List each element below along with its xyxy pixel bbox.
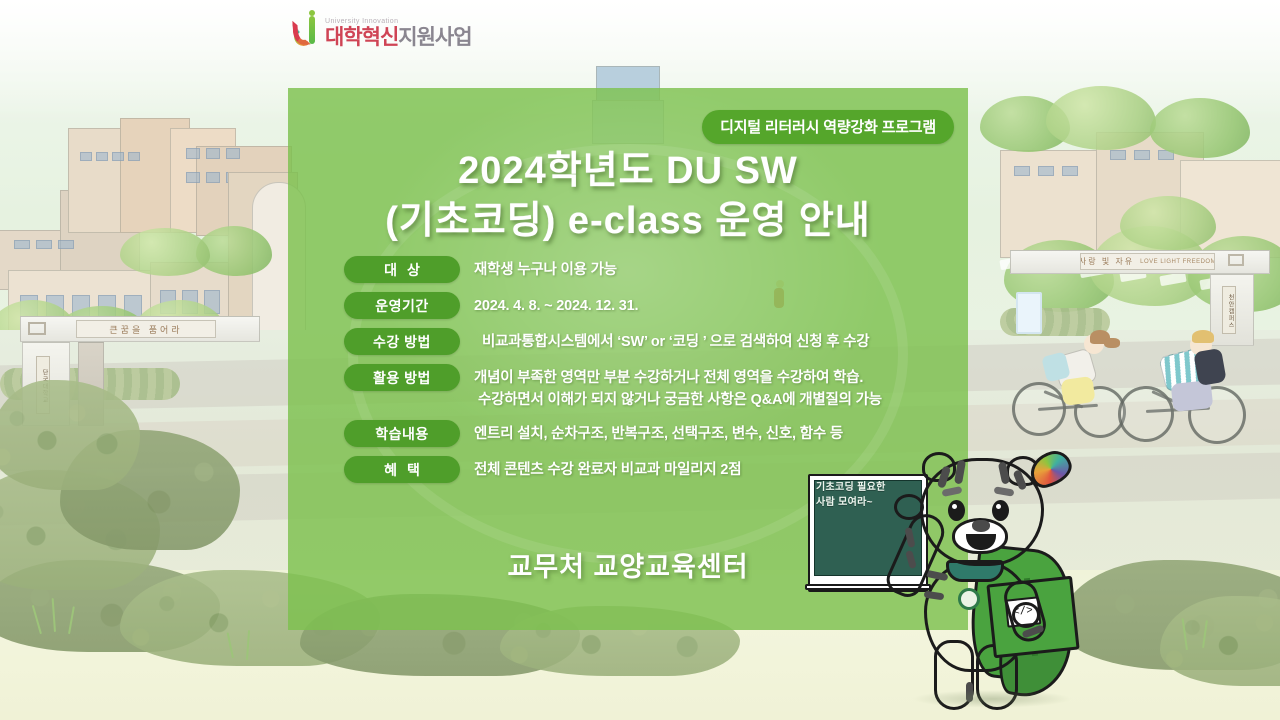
building-window [206,172,220,183]
gate-sign-text-ko: 사랑 빛 자유 [1080,256,1134,267]
row-label-period: 운영기간 [344,292,460,319]
building-window [186,148,200,159]
row-value-line2: 수강하면서 이해가 되지 않거나 궁금한 사항은 Q&A에 개별질의 가능 [474,389,950,411]
mascot-eye-left [948,500,965,521]
program-category-badge: 디지털 리터러시 역량강화 프로그램 [702,110,954,144]
gate-vertical-banner: 천안캠퍼스 [1222,286,1236,334]
info-row: 학습내용 엔트리 설치, 순차구조, 반복구조, 선택구조, 변수, 신호, 함… [344,420,950,447]
row-value-usage-method: 개념이 부족한 영역만 부분 수강하거나 전체 영역을 수강하여 학습. 수강하… [460,364,950,411]
gate-sign-plate: 사랑 빛 자유 LOVE LIGHT FREEDOM [1080,253,1215,270]
row-value-line1: 엔트리 설치, 순차구조, 반복구조, 선택구조, 변수, 신호, 함수 등 [474,426,843,442]
building-window [112,152,124,161]
mascot-eye-shine [952,504,957,509]
gate-emblem-icon [1228,254,1244,266]
logo-korean-part2: 지원사업 [398,26,471,49]
row-label-enrollment-method: 수강 방법 [344,328,460,355]
logo-j-dot [309,10,315,16]
info-row: 수강 방법 비교과통합시스템에서 ‘SW’ or ‘코딩 ’ 으로 검색하여 신… [344,328,950,355]
building-window [1038,166,1054,176]
row-value-line1: 재학생 누구나 이용 가능 [474,262,617,278]
mascot-medal [958,588,980,610]
tree [1150,98,1250,158]
building-window [1110,150,1126,160]
row-value-target: 재학생 누구나 이용 가능 [460,256,950,281]
title-line-1: 2024학년도 DU SW [458,150,798,192]
building-window [80,152,92,161]
logo-korean-part1: 대학혁신 [325,26,398,49]
building-window [1062,166,1078,176]
campus-noticeboard [1016,292,1042,334]
building-window [226,148,240,159]
info-row: 운영기간 2024. 4. 8. ~ 2024. 12. 31. [344,292,950,319]
gate-sign-plate: 큰꿈을 품어라 [76,320,216,338]
tree [1120,196,1216,250]
building-window [36,240,52,249]
poster-stage: 큰꿈을 품어라 단국대학교 사랑 빛 자유 LOVE LIGHT FREEDOM… [0,0,1280,720]
logo-korean-name: 대학혁신지원사업 [325,27,472,48]
row-value-curriculum: 엔트리 설치, 순차구조, 반복구조, 선택구조, 변수, 신호, 함수 등 [460,420,950,445]
row-value-line1: 개념이 부족한 영역만 부분 수강하거나 전체 영역을 수강하여 학습. [474,370,863,386]
logo-mark-icon [293,14,320,50]
building-window [96,152,108,161]
row-value-line1: 2024. 4. 8. ~ 2024. 12. 31. [474,298,638,314]
bicycle-wheel [1118,386,1174,442]
logo-j-stem [309,16,315,44]
gate-sign-text: 큰꿈을 품어라 [109,323,182,336]
building-window [1014,166,1030,176]
building-window [14,240,30,249]
building-window [186,172,200,183]
row-value-enrollment-method: 비교과통합시스템에서 ‘SW’ or ‘코딩 ’ 으로 검색하여 신청 후 수강 [460,328,950,353]
mascot-paw-right [1012,602,1040,628]
row-label-benefit: 혜택 [344,456,460,483]
cyclist-figure [1118,334,1258,449]
mascot-eye-right [992,500,1009,521]
building-window [128,152,140,161]
row-value-period: 2024. 4. 8. ~ 2024. 12. 31. [460,292,950,317]
building-window [1134,150,1150,160]
info-row: 활용 방법 개념이 부족한 영역만 부분 수강하거나 전체 영역을 수강하여 학… [344,364,950,411]
university-innovation-logo: University Innovation 대학혁신지원사업 [293,14,472,50]
mascot-eye-shine [996,504,1001,509]
page-title: 2024학년도 DU SW (기초코딩) e-class 운영 안내 [288,146,968,246]
row-label-curriculum: 학습내용 [344,420,460,447]
logo-wordmark: University Innovation 대학혁신지원사업 [325,18,472,50]
logo-english-tagline: University Innovation [325,18,472,25]
title-line-2: (기초코딩) e-class 운영 안내 [304,196,952,246]
mascot-nose [972,520,990,532]
tree [120,228,210,276]
cyclist-legs [1060,376,1095,406]
row-value-line1: 비교과통합시스템에서 ‘SW’ or ‘코딩 ’ 으로 검색하여 신청 후 수강 [482,334,869,350]
gate-sign-text-en: LOVE LIGHT FREEDOM [1140,259,1215,265]
gate-emblem-icon [28,322,46,335]
cyclist-hair [1192,330,1214,343]
white-tiger-mascot: </> [880,452,1110,720]
info-rows: 대상 재학생 누구나 이용 가능 운영기간 2024. 4. 8. ~ 2024… [344,256,950,492]
mascot-shadow [912,690,1072,708]
row-label-usage-method: 활용 방법 [344,364,460,391]
row-label-target: 대상 [344,256,460,283]
building-window [58,240,74,249]
building-window [206,148,220,159]
row-value-line1: 전체 콘텐츠 수강 완료자 비교과 마일리지 2점 [474,462,741,478]
cyclist-backpack [1193,348,1226,386]
info-row: 대상 재학생 누구나 이용 가능 [344,256,950,283]
